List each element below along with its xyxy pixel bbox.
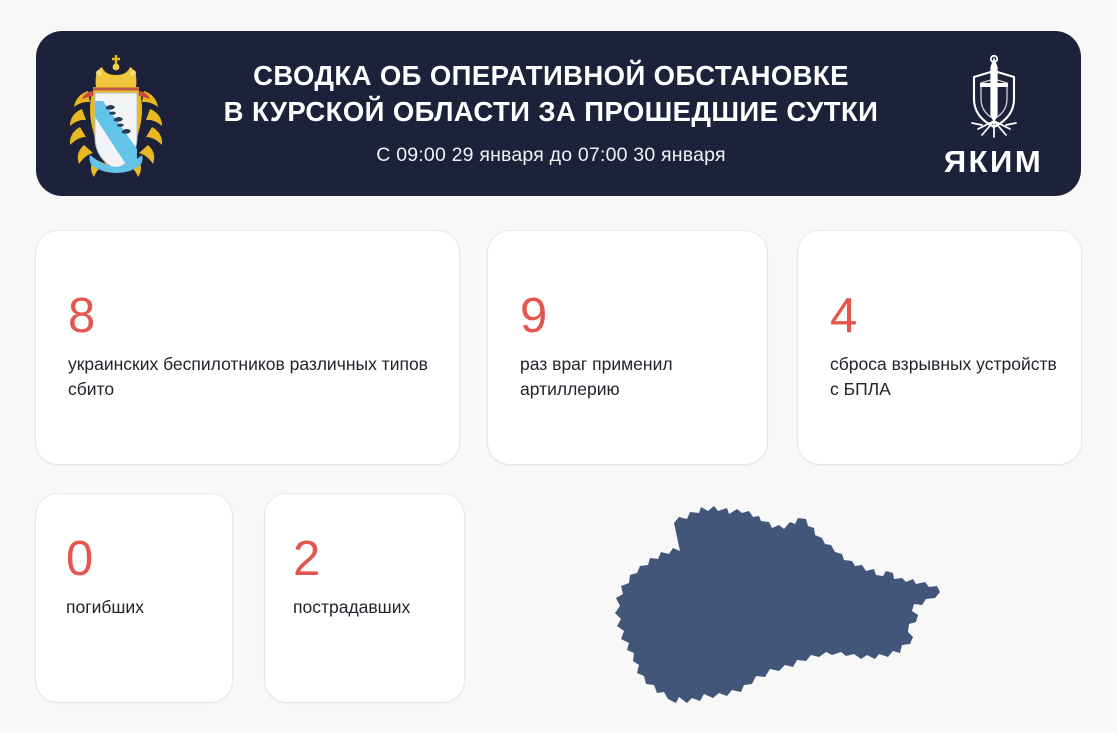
stat-label: пострадавших bbox=[293, 595, 452, 620]
stat-card-explosive-drops: 4 сброса взрывных устройств с БПЛА bbox=[798, 231, 1081, 464]
stat-value: 9 bbox=[520, 293, 749, 340]
header-text-block: СВОДКА ОБ ОПЕРАТИВНОЙ ОБСТАНОВКЕ В КУРСК… bbox=[196, 58, 906, 170]
region-map bbox=[596, 478, 986, 710]
stat-card-artillery: 9 раз враг применил артиллерию bbox=[488, 231, 767, 464]
page-title-line-1: СВОДКА ОБ ОПЕРАТИВНОЙ ОБСТАНОВКЕ bbox=[253, 58, 849, 94]
kursk-oblast-coat-of-arms-icon bbox=[62, 51, 170, 177]
stat-label: раз враг применил артиллерию bbox=[520, 352, 749, 403]
stat-value: 0 bbox=[66, 536, 218, 583]
stat-card-drones: 8 украинских беспилотников различных тип… bbox=[36, 231, 459, 464]
stat-card-killed: 0 погибших bbox=[36, 494, 232, 702]
coat-of-arms bbox=[36, 51, 196, 177]
kursk-oblast-map-silhouette-icon bbox=[596, 478, 986, 710]
page-title-line-2: В КУРСКОЙ ОБЛАСТИ ЗА ПРОШЕДШИЕ СУТКИ bbox=[224, 94, 879, 130]
stat-value: 4 bbox=[830, 293, 1063, 340]
stat-value: 8 bbox=[68, 293, 441, 340]
shield-sword-emblem-icon bbox=[948, 51, 1040, 143]
report-header: СВОДКА ОБ ОПЕРАТИВНОЙ ОБСТАНОВКЕ В КУРСК… bbox=[36, 31, 1081, 196]
report-period: С 09:00 29 января до 07:00 30 января bbox=[376, 144, 725, 167]
stat-value: 2 bbox=[293, 536, 452, 583]
stat-label: погибших bbox=[66, 595, 218, 620]
logo-wordmark: ЯКИМ bbox=[944, 146, 1043, 177]
stat-card-injured: 2 пострадавших bbox=[265, 494, 464, 702]
stat-label: сброса взрывных устройств с БПЛА bbox=[830, 352, 1063, 403]
organisation-logo: ЯКИМ bbox=[906, 51, 1081, 177]
stat-label: украинских беспилотников различных типов… bbox=[68, 352, 441, 403]
